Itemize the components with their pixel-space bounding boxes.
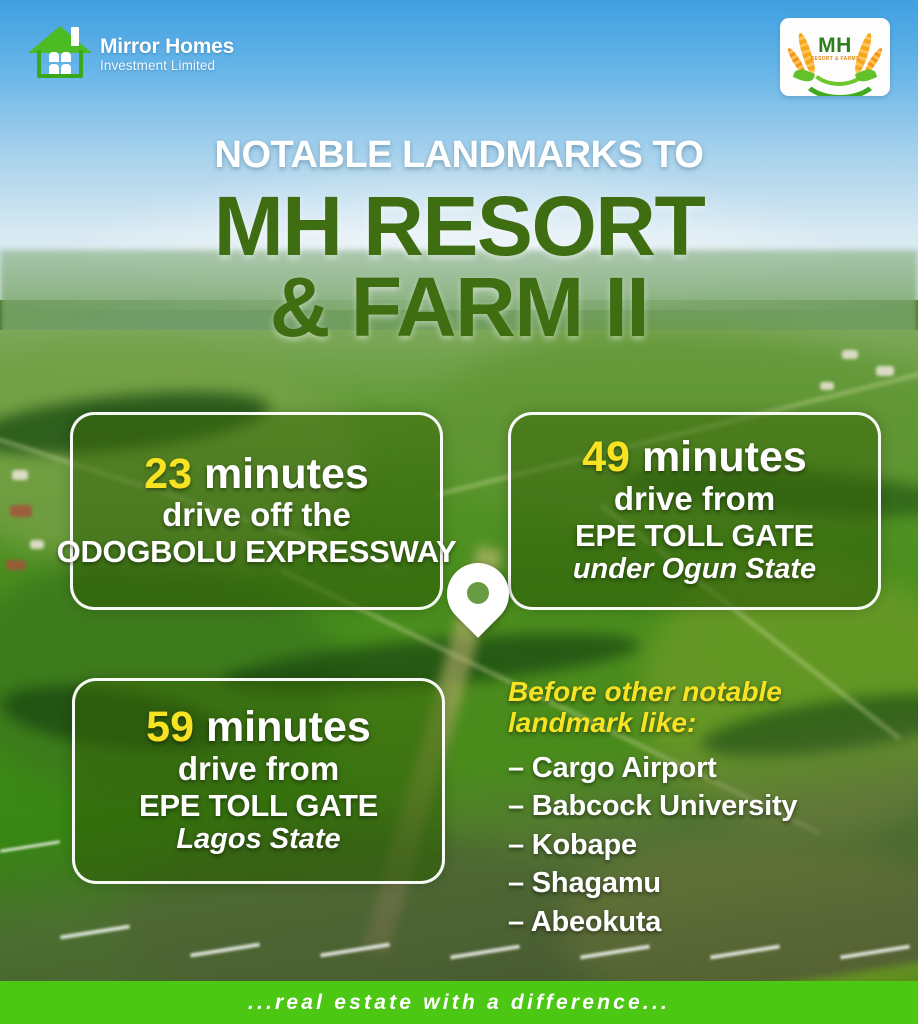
chimney-shape xyxy=(71,27,79,46)
list-item: – Kobape xyxy=(508,826,908,865)
window-icon xyxy=(49,52,71,74)
landmark-card-epe-lagos: 59 minutes drive from EPE TOLL GATE Lago… xyxy=(72,678,445,884)
house-icon xyxy=(28,24,92,80)
footer-tagline: ...real estate with a difference... xyxy=(248,991,670,1015)
card-minutes-value: 49 xyxy=(582,433,630,481)
landmark-card-odogbolu: 23 minutes drive off the ODOGBOLU EXPRES… xyxy=(70,412,443,610)
building-roof xyxy=(6,560,26,570)
mh-resort-farms-badge: MH RESORT & FARMS xyxy=(780,18,890,96)
building xyxy=(12,470,28,480)
list-item: – Shagamu xyxy=(508,864,908,903)
building xyxy=(842,350,858,359)
card-subtitle: drive from xyxy=(614,481,775,518)
card-minutes-unit: minutes xyxy=(204,450,369,498)
card-subtitle: drive off the xyxy=(162,497,351,534)
logo-name: Mirror Homes xyxy=(100,36,234,57)
card-place: ODOGBOLU EXPRESSWAY xyxy=(57,534,457,570)
card-minutes-unit: minutes xyxy=(642,433,807,481)
card-state: under Ogun State xyxy=(573,553,816,586)
card-place: EPE TOLL GATE xyxy=(139,788,378,824)
card-place: EPE TOLL GATE xyxy=(575,518,814,554)
card-duration-line: 23 minutes xyxy=(144,452,369,497)
footer-banner: ...real estate with a difference... xyxy=(0,981,918,1024)
other-landmarks-heading-line-2: landmark like: xyxy=(508,707,908,738)
building xyxy=(820,382,834,390)
badge-subtitle: RESORT & FARMS xyxy=(780,57,890,63)
mirror-homes-logo: Mirror Homes Investment Limited xyxy=(28,24,234,80)
card-minutes-unit: minutes xyxy=(206,703,371,751)
building-roof xyxy=(10,505,32,517)
landmark-card-epe-ogun: 49 minutes drive from EPE TOLL GATE unde… xyxy=(508,412,881,610)
other-landmarks-section: Before other notable landmark like: – Ca… xyxy=(508,676,908,942)
page-kicker: NOTABLE LANDMARKS TO xyxy=(0,134,918,177)
logo-wordmark: Mirror Homes Investment Limited xyxy=(100,32,234,73)
page-title-line-2: & FARM II xyxy=(0,267,918,348)
badge-initials: MH xyxy=(780,35,890,56)
list-item: – Cargo Airport xyxy=(508,749,908,788)
other-landmarks-heading-line-1: Before other notable xyxy=(508,676,908,707)
building xyxy=(876,366,894,376)
building xyxy=(30,540,44,549)
other-landmarks-list: – Cargo Airport – Babcock University – K… xyxy=(508,749,908,942)
card-minutes-value: 59 xyxy=(146,703,194,751)
list-item: – Babcock University xyxy=(508,787,908,826)
map-pin-hole xyxy=(467,582,489,604)
poster-root: Mirror Homes Investment Limited MH RESOR… xyxy=(0,0,918,1024)
card-state: Lagos State xyxy=(176,823,340,856)
logo-tagline: Investment Limited xyxy=(100,59,234,73)
other-landmarks-heading: Before other notable landmark like: xyxy=(508,676,908,739)
page-title-line-1: MH RESORT xyxy=(214,179,705,273)
list-item: – Abeokuta xyxy=(508,903,908,942)
card-minutes-value: 23 xyxy=(144,450,192,498)
card-subtitle: drive from xyxy=(178,751,339,788)
card-duration-line: 59 minutes xyxy=(146,705,371,750)
card-duration-line: 49 minutes xyxy=(582,435,807,480)
page-title: MH RESORT & FARM II xyxy=(0,186,918,349)
map-pin-icon xyxy=(447,563,509,648)
